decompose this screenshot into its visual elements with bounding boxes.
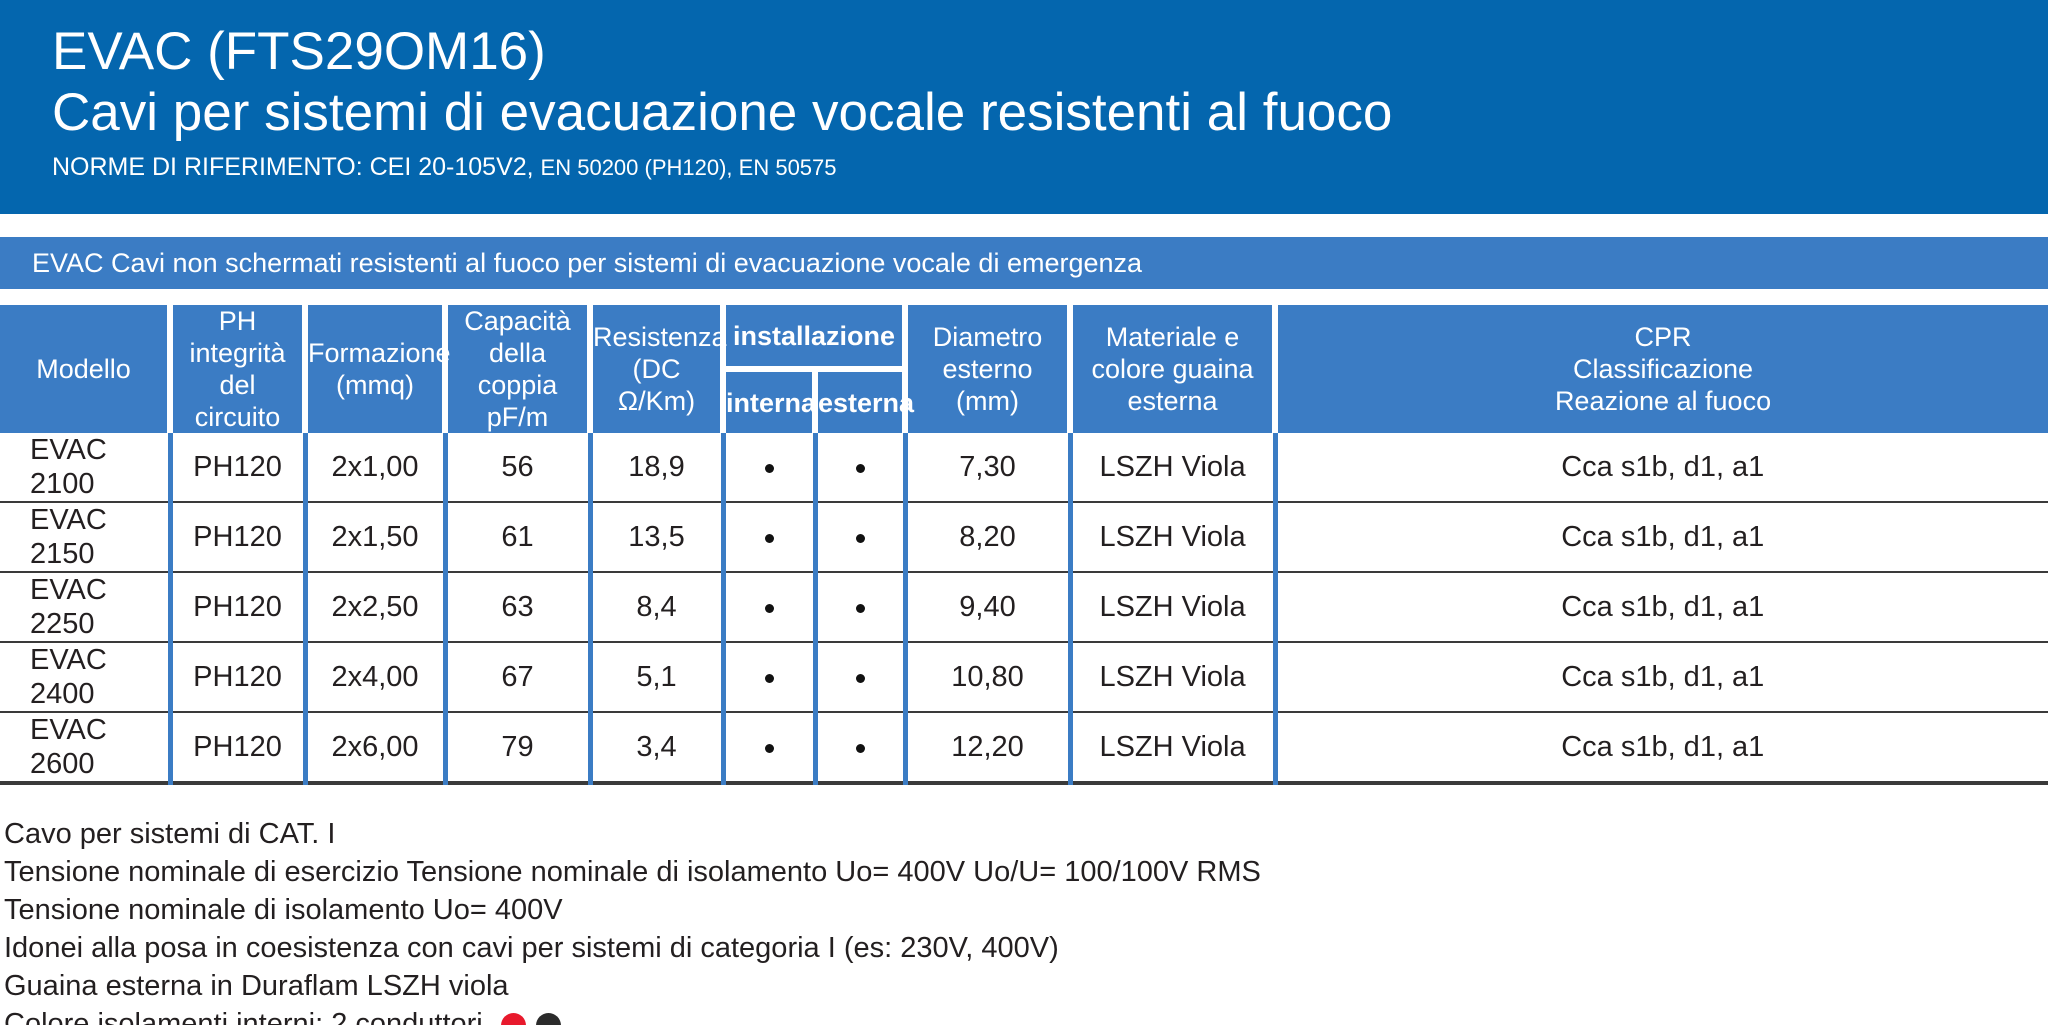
cell-diametro: 7,30 [905,433,1070,502]
cell-modello: EVAC 2100 [0,433,170,502]
cell-cpr: Cca s1b, d1, a1 [1275,572,2048,642]
table-row: EVAC 2150 PH120 2x1,50 61 13,5 8,20 LSZH… [0,502,2048,572]
cell-materiale: LSZH Viola [1070,502,1275,572]
conductor-color-red-icon [501,1013,526,1025]
col-header-formazione: Formazione (mmq) [305,305,445,433]
col-header-materiale-line3: esterna [1073,385,1272,417]
bullet-icon [765,464,774,473]
cell-installazione-interna [723,572,815,642]
cell-diametro: 8,20 [905,502,1070,572]
col-header-cpr-line1: CPR [1278,321,2048,353]
cell-installazione-interna [723,433,815,502]
col-header-ph: PH integrità del circuito [170,305,305,433]
bullet-icon [856,534,865,543]
col-header-resistenza-line1: Resistenza [593,321,720,353]
col-header-materiale-line1: Materiale e [1073,321,1272,353]
table-row: EVAC 2250 PH120 2x2,50 63 8,4 9,40 LSZH … [0,572,2048,642]
cell-installazione-esterna [815,572,905,642]
page-subtitle: Cavi per sistemi di evacuazione vocale r… [52,82,2048,144]
col-header-installazione: installazione [723,305,905,369]
spec-table-body: EVAC 2100 PH120 2x1,00 56 18,9 7,30 LSZH… [0,433,2048,783]
cell-capacita: 56 [445,433,590,502]
cell-materiale: LSZH Viola [1070,712,1275,783]
note-line-6-label: Colore isolamenti interni: 2 conduttori [4,1008,483,1025]
reference-standards-extra: EN 50200 (PH120), EN 50575 [541,155,837,180]
col-header-capacita-line3: pF/m [448,401,587,433]
table-row: EVAC 2400 PH120 2x4,00 67 5,1 10,80 LSZH… [0,642,2048,712]
cell-ph: PH120 [170,433,305,502]
col-header-installazione-esterna: esterna [815,369,905,433]
cell-modello: EVAC 2400 [0,642,170,712]
reference-standards-main: NORME DI RIFERIMENTO: CEI 20-105V2, [52,153,534,181]
note-line-3: Tensione nominale di isolamento Uo= 400V [4,891,2044,929]
cell-installazione-esterna [815,712,905,783]
cell-materiale: LSZH Viola [1070,572,1275,642]
section-strip: EVAC Cavi non schermati resistenti al fu… [0,237,2048,289]
cell-modello: EVAC 2600 [0,712,170,783]
cell-formazione: 2x4,00 [305,642,445,712]
col-header-diametro-line3: (mm) [908,385,1067,417]
cell-diametro: 10,80 [905,642,1070,712]
conductor-color-swatches [501,1013,561,1025]
bullet-icon [765,534,774,543]
col-header-diametro-line2: esterno [908,353,1067,385]
col-header-installazione-interna: interna [723,369,815,433]
cell-resistenza: 3,4 [590,712,723,783]
cell-modello: EVAC 2150 [0,502,170,572]
cell-materiale: LSZH Viola [1070,433,1275,502]
conductor-color-black-icon [536,1013,561,1025]
cell-modello: EVAC 2250 [0,572,170,642]
reference-standards: NORME DI RIFERIMENTO: CEI 20-105V2, EN 5… [52,152,2048,183]
col-header-capacita-line2: della coppia [448,337,587,401]
col-header-resistenza: Resistenza (DC Ω/Km) [590,305,723,433]
bullet-icon [856,674,865,683]
note-line-1: Cavo per sistemi di CAT. I [4,815,2044,853]
col-header-resistenza-line2: (DC Ω/Km) [593,353,720,417]
note-line-6: Colore isolamenti interni: 2 conduttori [4,1005,2044,1025]
cell-materiale: LSZH Viola [1070,642,1275,712]
cell-cpr: Cca s1b, d1, a1 [1275,642,2048,712]
col-header-diametro: Diametro esterno (mm) [905,305,1070,433]
col-header-materiale-line2: colore guaina [1073,353,1272,385]
cell-capacita: 63 [445,572,590,642]
cell-resistenza: 13,5 [590,502,723,572]
cell-installazione-esterna [815,502,905,572]
footer-notes: Cavo per sistemi di CAT. I Tensione nomi… [4,815,2044,1025]
note-line-4: Idonei alla posa in coesistenza con cavi… [4,929,2044,967]
col-header-capacita-line1: Capacità [448,305,587,337]
cell-capacita: 67 [445,642,590,712]
cell-installazione-interna [723,502,815,572]
table-row: EVAC 2600 PH120 2x6,00 79 3,4 12,20 LSZH… [0,712,2048,783]
col-header-ph-line2: integrità del [173,337,302,401]
cell-ph: PH120 [170,712,305,783]
cell-installazione-interna [723,712,815,783]
bullet-icon [765,674,774,683]
bullet-icon [856,464,865,473]
col-header-modello: Modello [0,305,170,433]
spec-table-wrap: Modello PH integrità del circuito Formaz… [0,305,2048,785]
table-row: EVAC 2100 PH120 2x1,00 56 18,9 7,30 LSZH… [0,433,2048,502]
cell-cpr: Cca s1b, d1, a1 [1275,712,2048,783]
col-header-formazione-line2: (mmq) [308,369,442,401]
cell-resistenza: 5,1 [590,642,723,712]
cell-formazione: 2x1,00 [305,433,445,502]
cell-diametro: 12,20 [905,712,1070,783]
col-header-ph-line1: PH [173,305,302,337]
header-band: EVAC (FTS29OM16) Cavi per sistemi di eva… [0,0,2048,214]
spec-table-head: Modello PH integrità del circuito Formaz… [0,305,2048,433]
note-line-2: Tensione nominale di esercizio Tensione … [4,853,2044,891]
cell-resistenza: 8,4 [590,572,723,642]
page-title: EVAC (FTS29OM16) [52,22,2048,82]
col-header-materiale: Materiale e colore guaina esterna [1070,305,1275,433]
section-strip-label: EVAC Cavi non schermati resistenti al fu… [32,248,1142,278]
cell-ph: PH120 [170,572,305,642]
cell-formazione: 2x6,00 [305,712,445,783]
bullet-icon [856,744,865,753]
bullet-icon [856,604,865,613]
cell-ph: PH120 [170,502,305,572]
col-header-ph-line3: circuito [173,401,302,433]
bullet-icon [765,604,774,613]
cell-installazione-esterna [815,433,905,502]
cell-formazione: 2x2,50 [305,572,445,642]
cell-ph: PH120 [170,642,305,712]
col-header-cpr-line3: Reazione al fuoco [1278,385,2048,417]
datasheet-page: EVAC (FTS29OM16) Cavi per sistemi di eva… [0,0,2048,1025]
cell-capacita: 61 [445,502,590,572]
cell-installazione-interna [723,642,815,712]
cell-cpr: Cca s1b, d1, a1 [1275,502,2048,572]
cell-capacita: 79 [445,712,590,783]
cell-cpr: Cca s1b, d1, a1 [1275,433,2048,502]
bullet-icon [765,744,774,753]
col-header-cpr: CPR Classificazione Reazione al fuoco [1275,305,2048,433]
col-header-formazione-line1: Formazione [308,337,442,369]
cell-formazione: 2x1,50 [305,502,445,572]
cell-resistenza: 18,9 [590,433,723,502]
spec-table: Modello PH integrità del circuito Formaz… [0,305,2048,785]
cell-installazione-esterna [815,642,905,712]
col-header-cpr-line2: Classificazione [1278,353,2048,385]
col-header-diametro-line1: Diametro [908,321,1067,353]
header-row-main: Modello PH integrità del circuito Formaz… [0,305,2048,369]
cell-diametro: 9,40 [905,572,1070,642]
col-header-capacita: Capacità della coppia pF/m [445,305,590,433]
note-line-5: Guaina esterna in Duraflam LSZH viola [4,967,2044,1005]
